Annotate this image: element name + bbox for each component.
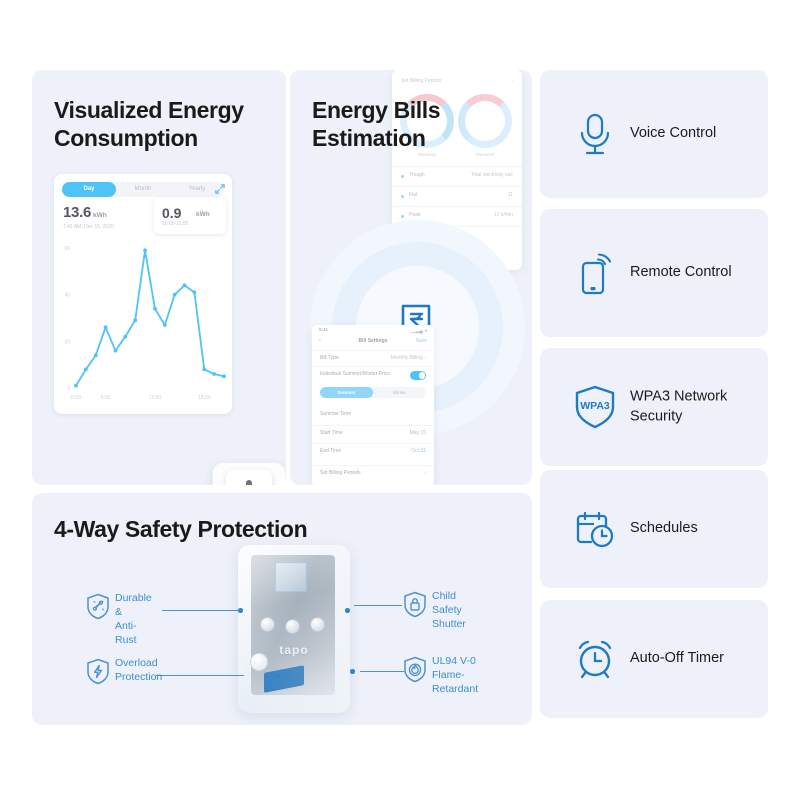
energy-app-card: Day Month Yearly 13.6kWh 7:41 AM, Dec 15… (54, 174, 232, 414)
svg-text:18:00: 18:00 (198, 395, 211, 401)
svg-text:0: 0 (67, 386, 70, 392)
alarm-clock-icon (572, 636, 618, 682)
energy-hourly-unit: kWh (196, 211, 210, 218)
leader-line (162, 610, 240, 611)
callout-label: Durable & Anti-Rust (115, 592, 152, 647)
leader-dot (350, 669, 355, 674)
chevron-right-icon[interactable]: › (511, 78, 513, 84)
energy-total-unit: kWh (93, 212, 107, 219)
svg-text:WPA3: WPA3 (580, 400, 610, 412)
billing-row-flat: Flat 11 (401, 192, 513, 202)
save-button[interactable]: Save (416, 338, 427, 344)
callout-label: UL94 V-0 Flame-Retardant (432, 655, 478, 697)
sidebar-item-remote-control[interactable]: Remote Control (540, 209, 768, 337)
svg-text:60: 60 (64, 246, 70, 252)
energy-total-stat: 13.6kWh 7:41 AM, Dec 15, 2020 (63, 204, 114, 230)
row-label: Bill Type (320, 355, 339, 361)
row-label: Start Time (320, 430, 343, 436)
row-set-billing-periods[interactable]: Set Billing Periods › (312, 465, 434, 481)
energy-hourly-stat: 0.9 kWh 10:00-11:00 (154, 198, 226, 234)
weekday-dial-caption: Weekday (400, 152, 454, 157)
sidebar-item-schedules[interactable]: Schedules (540, 470, 768, 588)
billing-card-title: Set Billing Periods (401, 78, 442, 84)
chart-canvas: 02040600:006:0012:0018:00 (54, 240, 232, 414)
row-label: Summer Time (320, 411, 351, 417)
panel-safety-protection: 4-Way Safety Protection tapo (32, 493, 532, 725)
shield-wpa3-icon: WPA3 (572, 384, 618, 430)
leader-dot (238, 608, 243, 613)
billing-row-key: Flat (409, 192, 417, 198)
status-icons: ▁▂▄ ● (411, 328, 428, 334)
leader-line (354, 605, 402, 606)
energy-tab-bar[interactable]: Day Month Yearly (62, 182, 224, 197)
sidebar-label: Auto-Off Timer (630, 649, 724, 669)
individual-price-toggle[interactable] (410, 371, 426, 380)
tab-day[interactable]: Day (62, 182, 116, 197)
calendar-clock-icon (572, 506, 618, 552)
leader-dot (345, 608, 350, 613)
bill-settings-screen: 9:41 ▁▂▄ ● ‹ Bill Settings Save Bill Typ… (312, 325, 434, 485)
billing-row-value: Total electricity use (471, 172, 513, 178)
svg-text:12:00: 12:00 (149, 395, 162, 401)
sidebar-label: WPA3 Network Security (630, 387, 727, 426)
status-time: 9:41 (319, 327, 328, 332)
panel-safety-title: 4-Way Safety Protection (54, 515, 307, 543)
row-summer-time[interactable]: Summer Time (312, 407, 434, 422)
nav-bar: ‹ Bill Settings Save (312, 336, 434, 348)
energy-hourly-value: 0.9 (162, 205, 181, 221)
tab-month[interactable]: Month (116, 182, 170, 197)
smart-plug-icon: tapo (212, 458, 286, 485)
billing-row-value: 11 (508, 192, 513, 198)
infographic-stage: Visualized Energy Consumption Day Month … (0, 0, 800, 800)
panel-energy-title: Visualized Energy Consumption (54, 96, 284, 152)
billing-row-key: Peak (409, 212, 420, 218)
shield-anti-rust-icon (86, 593, 110, 620)
energy-total-sub: 7:41 AM, Dec 15, 2020 (63, 224, 114, 230)
segment-summer[interactable]: Summer (320, 387, 373, 398)
microphone-icon (572, 111, 618, 157)
energy-line-chart: 02040600:006:0012:0018:00 (54, 240, 232, 414)
sidebar-label: Remote Control (630, 263, 732, 283)
sidebar-item-voice-control[interactable]: Voice Control (540, 70, 768, 198)
panel-bills-title: Energy Bills Estimation (312, 96, 522, 152)
shield-flame-icon (403, 656, 427, 683)
sidebar-label: Schedules (630, 519, 698, 539)
shield-bolt-icon (86, 658, 110, 685)
row-start-time[interactable]: Start Time May 15 (312, 425, 434, 441)
billing-row-key: Trough (409, 172, 425, 178)
row-label: Set Billing Periods (320, 470, 361, 476)
season-segmented-control[interactable]: Summer Winter (320, 387, 426, 398)
billing-row-trough: Trough Total electricity use (401, 172, 513, 182)
row-bill-type[interactable]: Bill Type Monthly Billing › (312, 350, 434, 366)
row-individual-price[interactable]: Individual Summer/Winter Price (312, 366, 434, 382)
leader-line (156, 675, 244, 676)
smart-plug-cutaway: tapo (238, 545, 350, 713)
energy-hourly-sub: 10:00-11:00 (162, 221, 188, 227)
weekend-dial-caption: Weekend (458, 152, 512, 157)
panel-energy-bills: Energy Bills Estimation Set Billing Peri… (290, 70, 532, 485)
expand-icon[interactable] (213, 182, 227, 196)
shield-lock-icon (403, 591, 427, 618)
leader-line (360, 671, 404, 672)
phone-signal-icon (572, 250, 618, 296)
row-value: Monthly Billing › (391, 355, 426, 361)
sidebar-label: Voice Control (630, 124, 716, 144)
billing-row-value: 12 h/min (494, 212, 513, 218)
callout-label: Child Safety Shutter (432, 590, 466, 632)
svg-text:0:00: 0:00 (71, 395, 81, 401)
sidebar-item-auto-off-timer[interactable]: Auto-Off Timer (540, 600, 768, 718)
svg-text:6:00: 6:00 (101, 395, 111, 401)
segment-winter[interactable]: Winter (373, 387, 426, 398)
row-end-time[interactable]: End Time Oct 31 (312, 443, 434, 459)
panel-visualized-energy: Visualized Energy Consumption Day Month … (32, 70, 286, 485)
energy-total-value: 13.6 (63, 204, 91, 221)
row-value: Oct 31 (411, 448, 426, 454)
svg-text:40: 40 (64, 293, 70, 299)
status-bar: 9:41 ▁▂▄ ● (312, 325, 434, 335)
row-label: Individual Summer/Winter Price (320, 371, 390, 377)
sidebar-item-wpa3-security[interactable]: WPA3 WPA3 Network Security (540, 348, 768, 466)
row-label: End Time (320, 448, 341, 454)
row-value: › (424, 470, 426, 476)
svg-text:20: 20 (64, 339, 70, 345)
callout-label: Overload Protection (115, 657, 162, 685)
leader-dot (275, 673, 280, 678)
row-value: May 15 (410, 430, 426, 436)
